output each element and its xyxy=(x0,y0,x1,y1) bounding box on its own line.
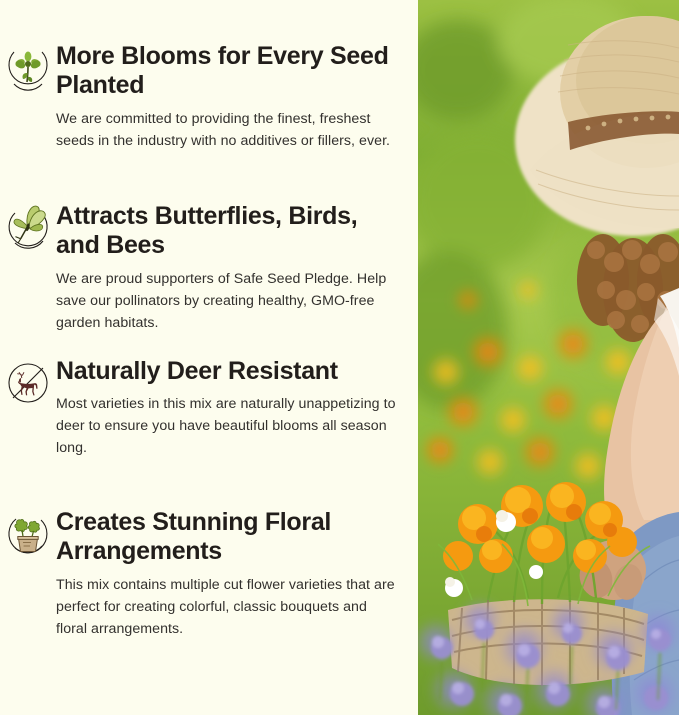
product-feature-panel: More Blooms for Every Seed Planted We ar… xyxy=(0,0,679,715)
feature-description: This mix contains multiple cut flower va… xyxy=(56,574,396,640)
feature-icon-container xyxy=(0,357,56,407)
feature-list: More Blooms for Every Seed Planted We ar… xyxy=(0,0,418,715)
photo-illustration xyxy=(418,0,679,715)
feature-icon-container xyxy=(0,42,56,92)
feature-item-attracts-pollinators: Attracts Butterflies, Birds, and Bees We… xyxy=(0,202,418,334)
feature-text-block: Creates Stunning Floral Arrangements Thi… xyxy=(56,508,418,640)
feature-text-block: Naturally Deer Resistant Most varieties … xyxy=(56,357,418,459)
feature-description: Most varieties in this mix are naturally… xyxy=(56,393,396,459)
feature-text-block: Attracts Butterflies, Birds, and Bees We… xyxy=(56,202,418,334)
feature-description: We are committed to providing the finest… xyxy=(56,108,396,152)
feature-title: Creates Stunning Floral Arrangements xyxy=(56,508,404,567)
butterfly-icon xyxy=(4,204,52,252)
feature-icon-container xyxy=(0,202,56,252)
feature-item-floral-arrangements: Creates Stunning Floral Arrangements Thi… xyxy=(0,508,418,640)
feature-title: Naturally Deer Resistant xyxy=(56,357,404,386)
feature-item-more-blooms: More Blooms for Every Seed Planted We ar… xyxy=(0,42,418,152)
potted-plant-icon xyxy=(4,510,52,558)
feature-item-deer-resistant: Naturally Deer Resistant Most varieties … xyxy=(0,357,418,459)
feature-title: More Blooms for Every Seed Planted xyxy=(56,42,404,101)
deer-resistant-icon xyxy=(4,359,52,407)
flower-bloom-icon xyxy=(4,44,52,92)
feature-title: Attracts Butterflies, Birds, and Bees xyxy=(56,202,404,261)
feature-text-block: More Blooms for Every Seed Planted We ar… xyxy=(56,42,418,152)
lifestyle-photo-woman-gathering-poppies xyxy=(418,0,679,715)
feature-icon-container xyxy=(0,508,56,558)
feature-description: We are proud supporters of Safe Seed Ple… xyxy=(56,268,396,334)
